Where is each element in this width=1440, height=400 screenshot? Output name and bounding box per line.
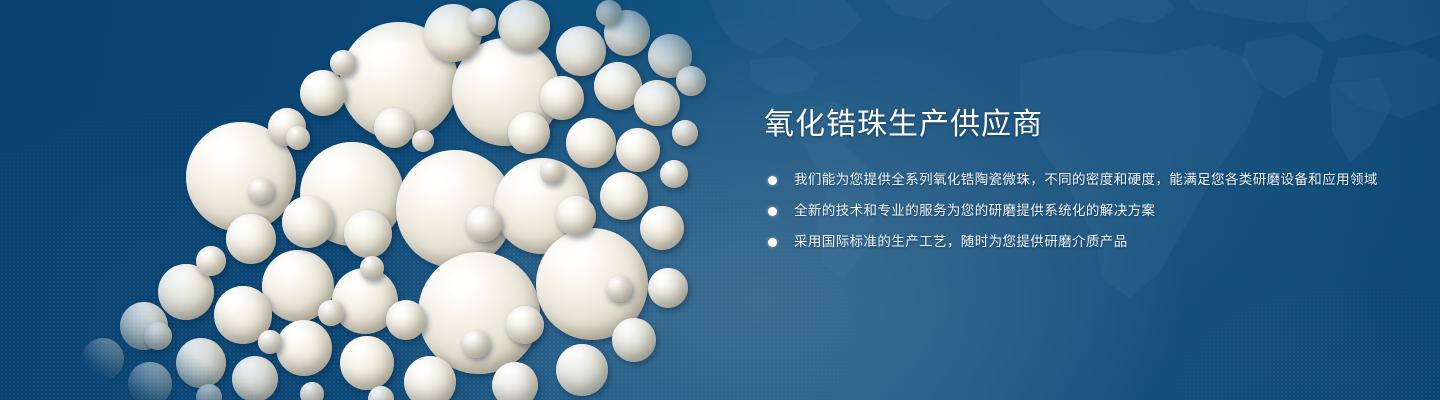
bullet-dot-icon bbox=[768, 176, 777, 185]
list-item: 全新的技术和专业的服务为您的研磨提供系统化的解决方案 bbox=[764, 200, 1404, 222]
bullet-dot-icon bbox=[768, 238, 777, 247]
halftone-texture-right bbox=[1020, 230, 1440, 400]
banner-copy: 氧化锆珠生产供应商 我们能为您提供全系列氧化锆陶瓷微珠，不同的密度和硬度，能满足… bbox=[764, 108, 1404, 252]
feature-list: 我们能为您提供全系列氧化锆陶瓷微珠，不同的密度和硬度，能满足您各类研磨设备和应用… bbox=[764, 169, 1404, 253]
list-item: 我们能为您提供全系列氧化锆陶瓷微珠，不同的密度和硬度，能满足您各类研磨设备和应用… bbox=[764, 169, 1404, 191]
list-item-text: 我们能为您提供全系列氧化锆陶瓷微珠，不同的密度和硬度，能满足您各类研磨设备和应用… bbox=[794, 172, 1378, 187]
page-title: 氧化锆珠生产供应商 bbox=[764, 108, 1404, 143]
list-item-text: 采用国际标准的生产工艺，随时为您提供研磨介质产品 bbox=[794, 234, 1128, 249]
hero-banner: 氧化锆珠生产供应商 我们能为您提供全系列氧化锆陶瓷微珠，不同的密度和硬度，能满足… bbox=[0, 0, 1440, 400]
zirconia-beads-image bbox=[0, 0, 760, 400]
list-item-text: 全新的技术和专业的服务为您的研磨提供系统化的解决方案 bbox=[794, 203, 1155, 218]
bullet-dot-icon bbox=[768, 207, 777, 216]
list-item: 采用国际标准的生产工艺，随时为您提供研磨介质产品 bbox=[764, 231, 1404, 253]
